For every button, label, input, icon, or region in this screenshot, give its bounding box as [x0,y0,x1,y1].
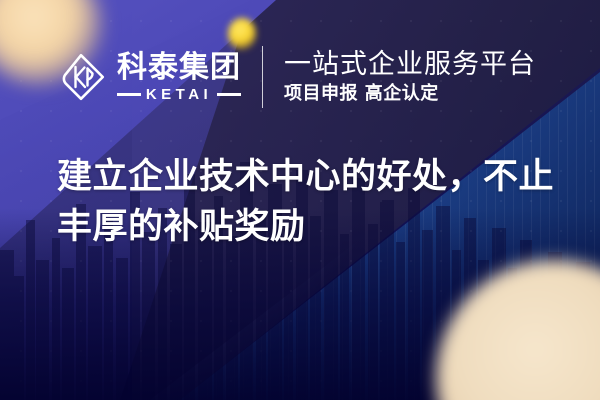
banner-header: 科泰集团 KETAI 一站式企业服务平台 项目申报 高企认定 [0,38,600,116]
tagline-secondary: 项目申报 高企认定 [284,83,536,105]
tagline-primary: 一站式企业服务平台 [284,49,536,80]
ketai-diamond-monogram-icon [56,52,106,102]
headline: 建立企业技术中心的好处，不止 丰厚的补贴奖励 [57,152,557,252]
brand-wordmark: 科泰集团 KETAI [117,53,241,102]
brand-name-en-row: KETAI [117,87,241,102]
header-divider [262,46,263,108]
headline-line-2: 丰厚的补贴奖励 [57,202,557,252]
header-tagline: 一站式企业服务平台 项目申报 高企认定 [284,49,536,105]
promo-banner: 科泰集团 KETAI 一站式企业服务平台 项目申报 高企认定 建立企业技术中心的… [0,0,600,400]
brand-name-en: KETAI [141,87,217,102]
wordmark-dash-left [117,93,141,96]
brand-name-cn: 科泰集团 [117,53,241,83]
wordmark-dash-right [217,93,241,96]
headline-line-1: 建立企业技术中心的好处，不止 [57,152,557,202]
brand-logo: 科泰集团 KETAI [56,52,241,102]
